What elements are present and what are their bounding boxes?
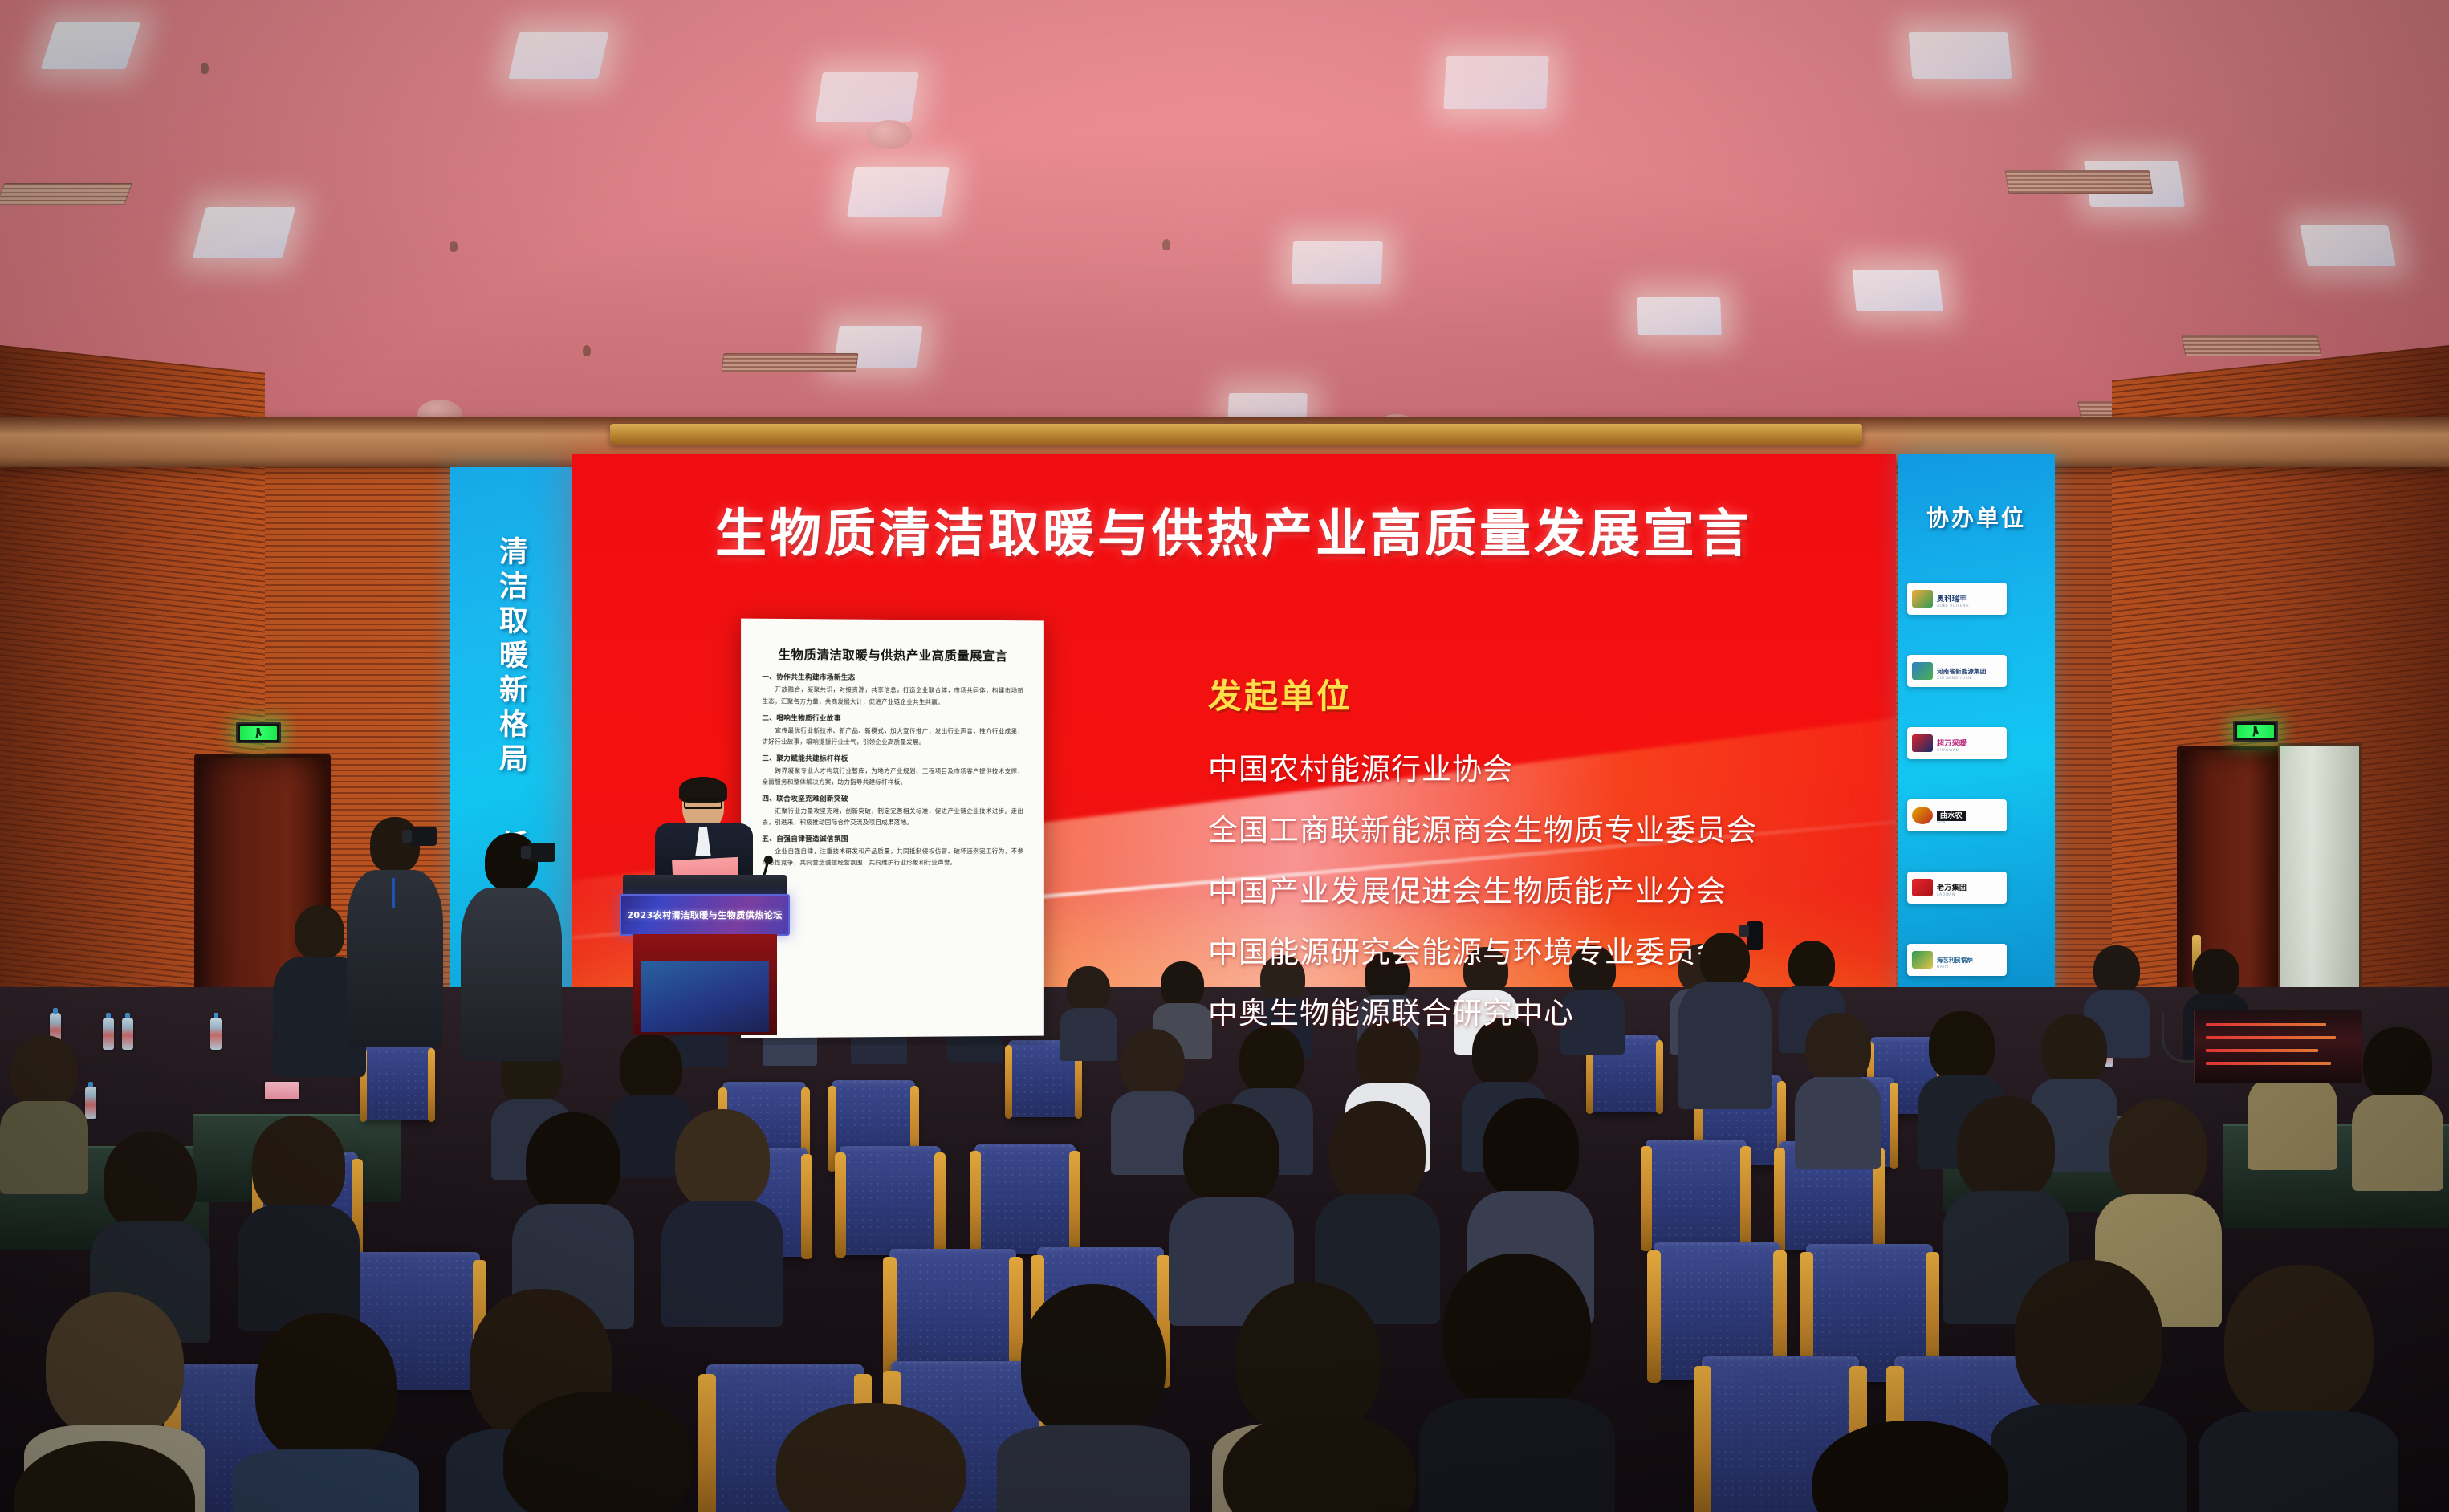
photographer-head [485, 833, 538, 891]
audience-head [1788, 941, 1835, 990]
audience-torso [0, 1101, 88, 1194]
audience-head [675, 1109, 770, 1210]
camera-icon [528, 843, 555, 862]
audience-member [1060, 966, 1117, 1059]
podium-base [633, 934, 777, 1035]
name-card [265, 1082, 299, 1099]
seat-arm [835, 1152, 846, 1258]
audience-head [1121, 1029, 1185, 1098]
sponsor-logo-pinyin: XIN NENG YUAN [1937, 677, 1987, 681]
photographer-right [1678, 921, 1772, 1106]
audience-torso [2248, 1075, 2337, 1170]
seat-arm [1647, 1250, 1661, 1383]
audience-head [2041, 1014, 2107, 1085]
sponsor-list-item: 中国农村能源行业协会 [1208, 745, 1757, 788]
audience-head [503, 1392, 693, 1512]
audience-member [2352, 1027, 2443, 1189]
audience-torso [1419, 1398, 1615, 1512]
sponsor-logo-card: 河南省新能源集团XIN NENG YUAN [1907, 655, 2007, 687]
sponsor-list-item: 中奥生物能源联合研究中心 [1208, 989, 1757, 1032]
seat-arm [1069, 1151, 1080, 1256]
sponsor-logo-card: 奥科瑞丰AOKE RUIFENG [1907, 583, 2007, 615]
water-bottle [103, 1018, 114, 1050]
audience-head [1329, 1101, 1426, 1204]
audience-torso [2352, 1095, 2443, 1191]
auditorium-seat[interactable] [363, 1043, 432, 1120]
seat-arm [1740, 1146, 1751, 1251]
audience-head [2015, 1260, 2162, 1417]
sponsor-logo-card: 海艺利民锅炉HAIYI [1907, 944, 2007, 976]
seat-arm [934, 1152, 946, 1258]
seat-arm [428, 1048, 435, 1122]
seat-arm [1656, 1040, 1664, 1114]
sponsor-logo-card: 超万采暖CHAOWAN [1907, 727, 2007, 759]
sponsor-logo-mark-icon [1912, 734, 1933, 752]
exit-sign-right [2233, 721, 2278, 742]
sponsor-list-item: 中国产业发展促进会生物质能产业分会 [1208, 867, 1757, 910]
av-equipment-rack [2194, 1010, 2362, 1083]
podium: 2023农村清洁取暖与生物质供热论坛 [620, 875, 790, 1035]
document-section-body: 宣传最优行业新技术、新产品、新模式，加大宣传推广，发出行业声音，推介行业成果，讲… [762, 725, 1023, 748]
exit-sign-glyph-icon [2237, 725, 2274, 738]
seat-arm [1890, 1083, 1898, 1169]
audience-member-foreground [1193, 1412, 1446, 1512]
sponsor-logo-pinyin: SUN [1937, 821, 1966, 825]
sponsor-logo-card: 曲水农SUN [1907, 799, 2007, 831]
conference-hall-photo: 清洁取暖新格局 低碳绿色 生物质清洁取暖与供热产业高质量发展宣言 生物质清洁取暖… [0, 0, 2449, 1512]
audience-head [14, 1441, 195, 1512]
audience-head [1223, 1412, 1416, 1512]
audience-head [1957, 1096, 2055, 1201]
audience-head [2363, 1027, 2432, 1101]
audience-head [2193, 949, 2239, 998]
audience-head [1021, 1284, 1166, 1438]
auditorium-seat[interactable] [1646, 1140, 1747, 1249]
document-section-heading: 三、聚力赋能共建标杆样板 [762, 753, 1023, 763]
audience-torso [1060, 1008, 1117, 1061]
document-section-heading: 一、协作共生构建市场新生态 [762, 673, 1023, 684]
audience-head [104, 1132, 197, 1231]
photographer-standing-left-2 [461, 827, 562, 1059]
podium-sign-text: 2023农村清洁取暖与生物质供热论坛 [627, 908, 783, 921]
audience-head [255, 1313, 397, 1462]
photographer-torso [461, 888, 562, 1061]
banner-title: 生物质清洁取暖与供热产业高质量发展宣言 [572, 493, 1896, 567]
sponsor-logo-name: 超万采暖 [1937, 740, 1967, 748]
sponsor-logo-pinyin: LAOWAN [1937, 893, 1967, 897]
right-led-sponsor-panel: 协办单位 奥科瑞丰AOKE RUIFENG 河南省新能源集团XIN NENG Y… [1898, 454, 2055, 1045]
audience-head [2224, 1265, 2374, 1424]
audience-head [1161, 961, 1204, 1008]
audience-torso [238, 1205, 360, 1331]
audience-member-foreground [0, 1441, 225, 1512]
photographer-torso [1678, 982, 1772, 1109]
sponsor-logo-name: 曲水农 [1937, 811, 1966, 821]
auditorium-seat[interactable] [974, 1144, 1076, 1254]
seat-arm [801, 1154, 812, 1259]
attendee-head [295, 905, 344, 960]
seat-arm [1005, 1045, 1013, 1119]
sponsor-list-item: 全国工商联新能源商会生物质专业委员会 [1208, 806, 1757, 849]
co-organizer-heading: 协办单位 [1898, 501, 2055, 533]
sponsor-logo-mark-icon [1912, 951, 1933, 969]
sponsor-logo-name: 奥科瑞丰 [1937, 595, 1967, 604]
smartphone-icon [1747, 921, 1763, 950]
photographer-standing-left [347, 804, 443, 1045]
sponsor-logo-pinyin: CHAOWAN [1937, 749, 1967, 753]
audience-head [776, 1403, 966, 1512]
podium-sign: 2023农村清洁取暖与生物质供热论坛 [620, 894, 790, 936]
audience-member [1795, 1013, 1881, 1167]
audience-head [2109, 1099, 2207, 1204]
audience-member [0, 1035, 88, 1193]
document-title: 生物质清洁取暖与供热产业高质量展宣言 [762, 646, 1023, 666]
audience-torso [1795, 1077, 1881, 1169]
audience-member-foreground [474, 1392, 722, 1512]
seat-arm [1641, 1146, 1652, 1251]
document-section-body: 汇聚行业力量攻坚克难，创新突破，制定完善相关标准，促进产业链企业技术进步。走出去… [762, 806, 1023, 828]
audience-member [997, 1284, 1190, 1512]
audience-member [233, 1313, 419, 1512]
audience-head [1812, 1421, 2008, 1512]
audience-torso [233, 1449, 419, 1512]
audience-torso [661, 1201, 783, 1327]
seat-arm [1774, 1148, 1785, 1253]
document-section-heading: 四、联合攻坚克难创新突破 [762, 794, 1023, 803]
photographer-torso [347, 870, 443, 1047]
audience-member [1419, 1254, 1615, 1512]
sponsor-logo-pinyin: AOKE RUIFENG [1937, 604, 1969, 608]
water-bottle [210, 1018, 222, 1050]
audience-torso [997, 1425, 1190, 1512]
stage-truss [610, 424, 1862, 445]
sponsor-heading: 发起单位 [1208, 669, 1353, 718]
sponsor-organization-list: 中国农村能源行业协会 全国工商联新能源商会生物质专业委员会 中国产业发展促进会生… [1208, 745, 1757, 1045]
audience-head [10, 1035, 78, 1108]
sponsor-logo-mark-icon [1912, 590, 1933, 608]
sponsor-logo-name: 河南省新能源集团 [1937, 668, 1987, 675]
exit-sign-glyph-icon [240, 726, 277, 740]
photographer-head [1700, 933, 1750, 987]
audience-head [1183, 1104, 1279, 1207]
auditorium-seat[interactable] [840, 1146, 941, 1255]
sponsor-logo-name: 海艺利民锅炉 [1937, 957, 1973, 964]
sponsor-logo-name: 老万集团 [1937, 884, 1967, 892]
sponsor-logo-mark-icon [1912, 879, 1933, 896]
exit-sign-left [236, 722, 281, 743]
audience-head [1443, 1254, 1591, 1411]
document-section-body: 跨界凝聚专业人才构筑行业智库，为地方产业规划、工程项目及市场客户提供技术支撑，全… [762, 765, 1023, 788]
water-bottle [122, 1018, 133, 1050]
podium-top-surface [623, 875, 787, 896]
document-section-heading: 二、唱响生物质行业故事 [762, 713, 1023, 723]
audience-head [46, 1292, 184, 1438]
sponsor-logo-mark-icon [1912, 662, 1933, 680]
audience-head [620, 1034, 682, 1101]
speaker-at-podium [655, 780, 753, 884]
document-section-heading: 五、自强自律营造诚信氛围 [762, 834, 1023, 843]
lanyard [392, 878, 395, 908]
left-banner-line-1: 清洁取暖新格局 [490, 536, 531, 778]
audience-head [1929, 1011, 1995, 1082]
audience-head [1067, 966, 1110, 1013]
audience-member [661, 1109, 783, 1324]
document-section-body: 开放融合，凝聚共识，对接资源，共享信息，打造企业联合体，市场共同体，构建市场新生… [762, 685, 1023, 709]
sponsor-logo-card: 老万集团LAOWAN [1907, 872, 2007, 904]
sponsor-list-item: 中国能源研究会能源与环境专业委员会 [1208, 928, 1757, 971]
audience-head [1483, 1098, 1579, 1201]
sponsor-logo-pinyin: HAIYI [1937, 965, 1973, 969]
audience-head [1805, 1013, 1871, 1083]
sponsor-logo-mark-icon [1912, 807, 1933, 824]
speaker-glasses-icon [684, 799, 722, 809]
audience-member-foreground [1782, 1421, 2039, 1512]
audience-member [2199, 1265, 2398, 1512]
audience-member-foreground [746, 1403, 995, 1512]
seat-arm [1694, 1366, 1711, 1512]
audience-head [2093, 945, 2140, 995]
seat-arm [970, 1151, 981, 1256]
camera-icon [409, 827, 437, 846]
audience-head [526, 1112, 620, 1213]
audience-head [252, 1116, 345, 1215]
audience-torso [2199, 1411, 2398, 1512]
document-section-body: 企业自强自律，注重技术研发和产品质量，共同抵制侵权仿冒、破坏违例完工行为，不参与… [762, 846, 1023, 868]
audience-member [238, 1116, 360, 1327]
